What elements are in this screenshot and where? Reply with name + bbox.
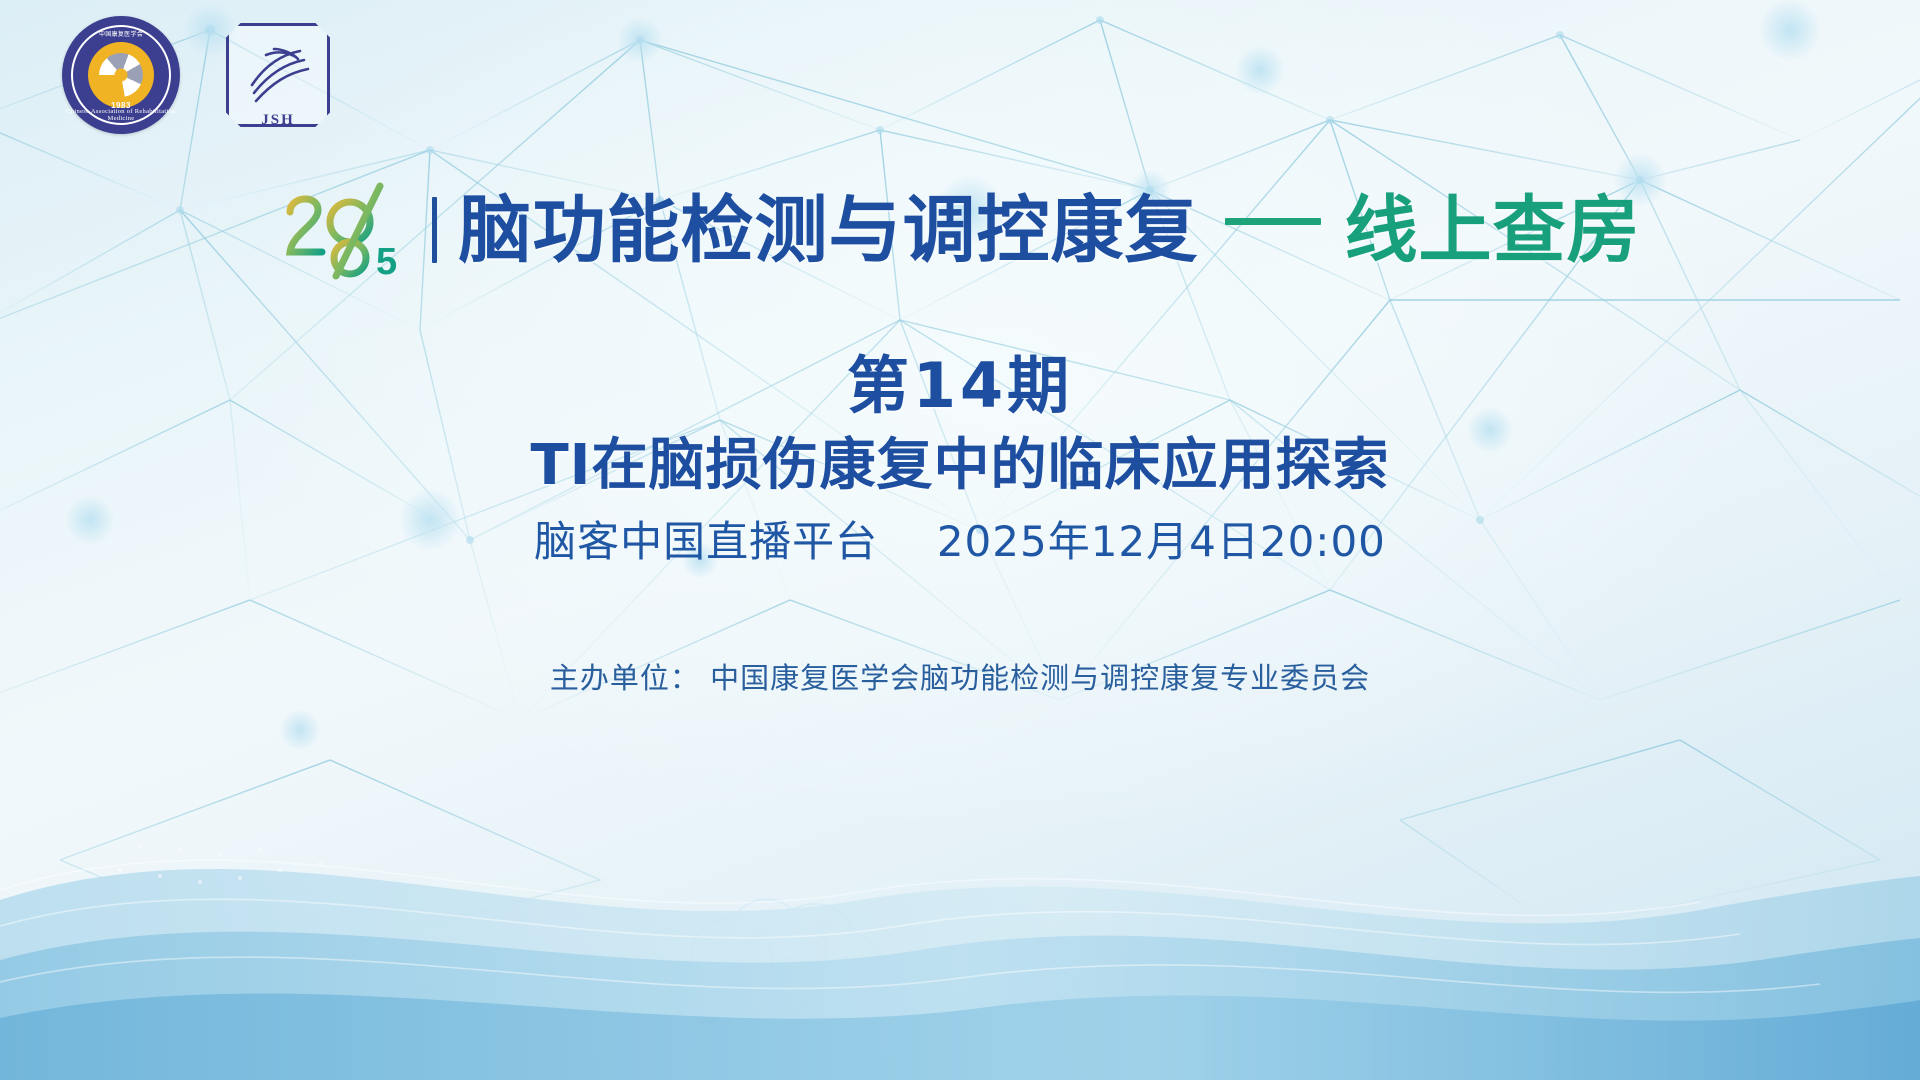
jsh-hands-logo: JSH	[222, 19, 334, 131]
title-highlight-text: 线上查房	[1345, 194, 1641, 267]
logo-english-name: Chinese Association of Rehabilitation Me…	[62, 108, 180, 122]
episode-subject: TI在脑损伤康复中的临床应用探索	[0, 420, 1920, 501]
svg-text:5: 5	[376, 241, 397, 282]
wave-decoration	[0, 750, 1920, 1080]
year-2025-logotype: 5	[280, 178, 412, 282]
platform-and-datetime: 脑客中国直播平台 2025年12月4日20:00	[0, 508, 1920, 569]
event-datetime: 2025年12月4日20:00	[937, 517, 1386, 566]
title-main-text: 脑功能检测与调控康复	[459, 194, 1199, 267]
organizer-line: 主办单位： 中国康复医学会脑功能检测与调控康复专业委员会	[0, 655, 1920, 697]
jsh-label: JSH	[222, 112, 334, 129]
logo-group: 中国康复医学会 1983 Chinese Association of Reha…	[62, 16, 334, 134]
title-divider	[432, 197, 437, 263]
logo-core	[88, 42, 154, 108]
platform-name: 脑客中国直播平台	[534, 517, 878, 566]
poster-title-row: 5 脑功能检测与调控康复 线上查房	[0, 176, 1920, 284]
episode-number: 第14期	[0, 335, 1920, 425]
logo-chinese-name: 中国康复医学会	[62, 29, 180, 38]
china-rehabilitation-association-logo: 中国康复医学会 1983 Chinese Association of Reha…	[62, 16, 180, 134]
logo-swirl-icon	[99, 53, 143, 97]
webinar-poster: 中国康复医学会 1983 Chinese Association of Reha…	[0, 0, 1920, 1080]
title-dash	[1225, 218, 1321, 225]
